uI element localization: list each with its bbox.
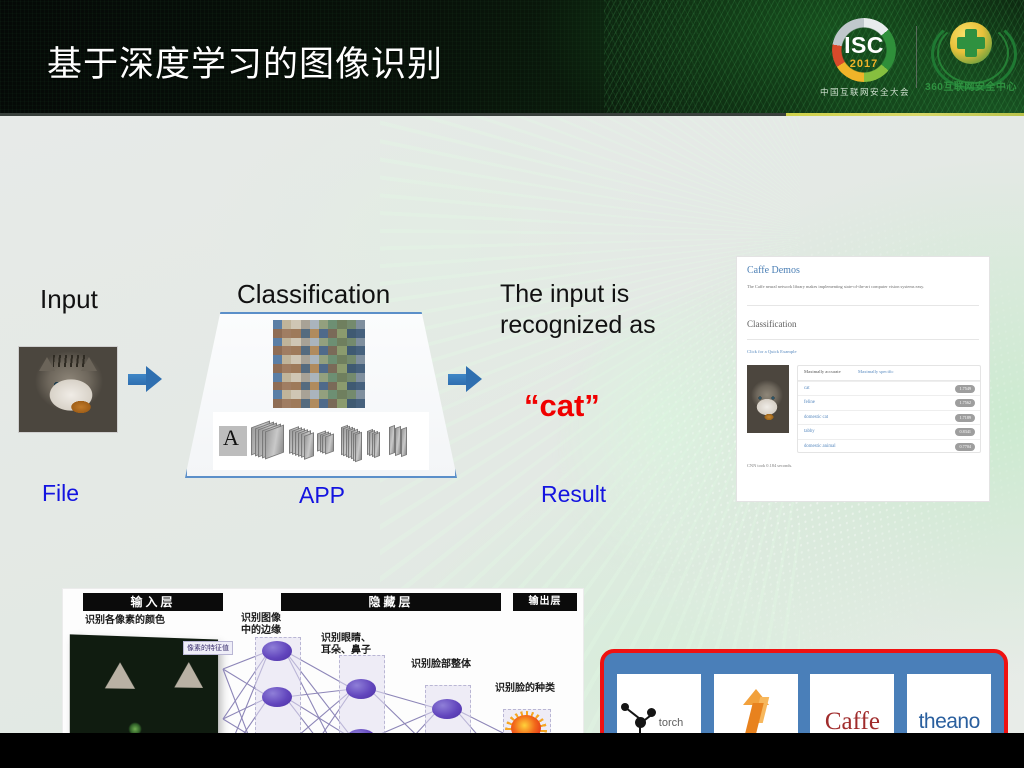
dataset-thumbnail <box>328 399 337 408</box>
result-word: “cat” <box>524 388 600 424</box>
result-label-text: tabby <box>804 429 815 434</box>
sec360-logo: 360互联网安全中心 <box>928 14 1014 104</box>
dataset-thumbnail <box>273 390 282 399</box>
dataset-thumbnail <box>319 399 328 408</box>
dataset-thumbnail <box>328 364 337 373</box>
cnn-feature-map <box>304 432 314 460</box>
dataset-thumbnail <box>291 320 300 329</box>
framework-card-torch[interactable]: torch <box>617 674 701 733</box>
page-title: 基于深度学习的图像识别 <box>47 44 443 86</box>
caffe-quick-example-link[interactable]: Click for a Quick Example <box>747 349 797 354</box>
dataset-thumbnail <box>273 355 282 364</box>
caffe-demos-title: Caffe Demos <box>747 265 800 276</box>
dataset-thumbnail <box>301 382 310 391</box>
dataset-thumbnail <box>356 390 365 399</box>
dataset-thumbnail <box>337 382 346 391</box>
cnn-feature-map <box>325 434 334 455</box>
image-dataset-thumbnail-grid <box>273 320 365 408</box>
dataset-thumbnail <box>310 399 319 408</box>
dataset-thumbnail <box>282 390 291 399</box>
dataset-thumbnail <box>301 320 310 329</box>
nn-node <box>346 679 376 699</box>
caffe-results-panel: Maximally accurate Maximally specific ca… <box>797 365 981 453</box>
dataset-thumbnail <box>328 338 337 347</box>
dataset-thumbnail <box>273 364 282 373</box>
input-label: Input <box>40 284 98 315</box>
result-score-badge: 1.7562 <box>955 399 975 407</box>
caffe-divider-2 <box>747 339 979 340</box>
caffe-description-text: The Caffe neural network library makes i… <box>747 284 924 289</box>
dataset-thumbnail <box>328 355 337 364</box>
result-label-text: feline <box>804 400 815 405</box>
nn-node <box>432 699 462 719</box>
dataset-thumbnail <box>337 373 346 382</box>
result-label-text: domestic animal <box>804 444 836 449</box>
dataset-thumbnail <box>319 329 328 338</box>
framework-card-caffe[interactable]: Caffe <box>810 674 894 733</box>
app-caption: APP <box>299 482 345 509</box>
dataset-thumbnail <box>319 338 328 347</box>
dataset-thumbnail <box>291 346 300 355</box>
caffe-logo-label: Caffe <box>825 708 880 733</box>
dataset-thumbnail <box>328 390 337 399</box>
dataset-thumbnail <box>347 355 356 364</box>
dataset-thumbnail <box>310 382 319 391</box>
dataset-thumbnail <box>301 355 310 364</box>
caffe-divider-1 <box>747 305 979 306</box>
dataset-thumbnail <box>291 338 300 347</box>
dataset-thumbnail <box>282 320 291 329</box>
dataset-thumbnail <box>319 373 328 382</box>
slide-header: 基于深度学习的图像识别 ISC 2017 中国互联网安全大会 360互联网安全中… <box>0 0 1024 114</box>
neural-network-illustration: 输入层 隐藏层 输出层 识别各像素的颜色 识别图像 中的边缘 识别眼睛、 耳朵、… <box>62 588 584 733</box>
dataset-thumbnail <box>347 320 356 329</box>
dataset-thumbnail <box>282 329 291 338</box>
input-cat-photo <box>18 346 118 433</box>
dataset-thumbnail <box>310 320 319 329</box>
result-label-text: domestic cat <box>804 415 828 420</box>
nn-node <box>262 641 292 661</box>
cnn-feature-map <box>265 425 284 460</box>
table-row[interactable]: feline 1.7562 <box>798 395 980 410</box>
caffe-demos-description: The Caffe neural network library makes i… <box>747 284 979 290</box>
framework-card-theano[interactable]: theano <box>907 674 991 733</box>
dataset-thumbnail <box>347 399 356 408</box>
dataset-thumbnail <box>291 355 300 364</box>
dataset-thumbnail <box>337 355 346 364</box>
table-row[interactable]: tabby 0.8341 <box>798 424 980 439</box>
result-label-text: cat <box>804 386 810 391</box>
framework-logos-panel: torch TensorFlow Caffe theano <box>600 649 1008 733</box>
table-row[interactable]: domestic animal 0.7704 <box>798 439 980 454</box>
dataset-thumbnail <box>356 399 365 408</box>
dataset-thumbnail <box>347 346 356 355</box>
torch-edge <box>639 726 641 733</box>
dataset-thumbnail <box>310 364 319 373</box>
dataset-thumbnail <box>291 382 300 391</box>
dataset-thumbnail <box>273 338 282 347</box>
result-score-badge: 1.7189 <box>955 414 975 422</box>
dataset-thumbnail <box>282 364 291 373</box>
table-row[interactable]: cat 1.7549 <box>798 381 980 396</box>
dataset-thumbnail <box>319 382 328 391</box>
arrow-shaft <box>128 374 148 385</box>
torch-logo-icon: torch <box>621 695 697 733</box>
dataset-thumbnail <box>310 355 319 364</box>
dataset-thumbnail <box>356 329 365 338</box>
logo-block: ISC 2017 中国互联网安全大会 360互联网安全中心 <box>816 14 1016 106</box>
pixel-feature-tag: 像素的特征值 <box>183 641 233 655</box>
dataset-thumbnail <box>301 390 310 399</box>
cnn-feature-map <box>401 427 407 457</box>
dataset-thumbnail <box>328 329 337 338</box>
dataset-thumbnail <box>347 329 356 338</box>
arrow-shaft <box>448 374 468 385</box>
dataset-thumbnail <box>282 338 291 347</box>
dataset-thumbnail <box>291 373 300 382</box>
isc-logo-subtitle: 中国互联网安全大会 <box>818 86 912 98</box>
dataset-thumbnail <box>301 338 310 347</box>
dataset-thumbnail <box>310 390 319 399</box>
result-caption: Result <box>541 481 606 508</box>
tab-maximally-specific[interactable]: Maximally specific <box>858 369 894 374</box>
dataset-thumbnail <box>319 364 328 373</box>
dataset-thumbnail <box>282 346 291 355</box>
dataset-thumbnail <box>347 382 356 391</box>
dataset-thumbnail <box>356 338 365 347</box>
dataset-thumbnail <box>273 329 282 338</box>
dataset-thumbnail <box>337 399 346 408</box>
dataset-thumbnail <box>301 346 310 355</box>
slide-footer-bar <box>0 733 1024 768</box>
dataset-thumbnail <box>291 329 300 338</box>
cnn-feature-map <box>374 432 380 458</box>
isc-logo-name: ISC <box>832 32 896 59</box>
caffe-timing-footer: CNN took 0.184 seconds. <box>747 463 792 468</box>
file-caption: File <box>42 480 79 507</box>
classification-app-shape: A <box>185 312 457 478</box>
dataset-thumbnail <box>337 390 346 399</box>
dataset-thumbnail <box>319 355 328 364</box>
dataset-thumbnail <box>301 364 310 373</box>
dataset-thumbnail <box>347 364 356 373</box>
dataset-thumbnail <box>319 390 328 399</box>
dataset-thumbnail <box>319 320 328 329</box>
table-row[interactable]: domestic cat 1.7189 <box>798 410 980 425</box>
caffe-section-title: Classification <box>747 319 797 329</box>
cat-forehead-stripes <box>53 355 85 367</box>
dataset-thumbnail <box>310 346 319 355</box>
dataset-thumbnail <box>356 346 365 355</box>
arrow-head <box>466 366 482 392</box>
result-score-badge: 0.8341 <box>955 428 975 436</box>
dataset-thumbnail <box>356 382 365 391</box>
torch-edge <box>625 707 640 720</box>
dataset-thumbnail <box>337 346 346 355</box>
dataset-thumbnail <box>301 399 310 408</box>
dataset-thumbnail <box>337 329 346 338</box>
tensorflow-logo-icon: TensorFlow <box>721 685 791 733</box>
dataset-thumbnail <box>347 390 356 399</box>
dataset-thumbnail <box>301 373 310 382</box>
dataset-thumbnail <box>328 373 337 382</box>
caffe-demos-screenshot: Caffe Demos The Caffe neural network lib… <box>736 256 990 502</box>
dataset-thumbnail <box>273 346 282 355</box>
dataset-thumbnail <box>337 338 346 347</box>
dataset-thumbnail <box>356 320 365 329</box>
sec360-logo-subtitle: 360互联网安全中心 <box>924 78 1018 93</box>
dataset-thumbnail <box>347 373 356 382</box>
dataset-thumbnail <box>356 364 365 373</box>
isc-logo-year: 2017 <box>832 58 896 70</box>
dataset-thumbnail <box>310 373 319 382</box>
dataset-thumbnail <box>301 329 310 338</box>
dataset-thumbnail <box>291 390 300 399</box>
theano-logo-label: theano <box>919 710 980 733</box>
dataset-thumbnail <box>282 373 291 382</box>
dataset-thumbnail <box>356 373 365 382</box>
dataset-thumbnail <box>291 399 300 408</box>
dataset-thumbnail <box>273 373 282 382</box>
dataset-thumbnail <box>310 338 319 347</box>
dataset-thumbnail <box>282 382 291 391</box>
cnn-architecture-diagram: A <box>213 412 429 470</box>
dataset-thumbnail <box>337 320 346 329</box>
result-score-badge: 0.7704 <box>955 443 975 451</box>
dataset-thumbnail <box>328 320 337 329</box>
dataset-thumbnail <box>291 364 300 373</box>
dataset-thumbnail <box>282 355 291 364</box>
arrow-right-icon-app-to-result <box>448 366 482 392</box>
tab-maximally-accurate[interactable]: Maximally accurate <box>804 369 841 374</box>
torch-label: torch <box>659 717 683 729</box>
nn-node <box>262 687 292 707</box>
framework-card-tensorflow[interactable]: TensorFlow <box>714 674 798 733</box>
caffe-input-thumbnail <box>747 365 789 433</box>
cnn-input-letter: A <box>223 427 239 449</box>
dataset-thumbnail <box>273 320 282 329</box>
dataset-thumbnail <box>337 364 346 373</box>
isc-2017-logo: ISC 2017 中国互联网安全大会 <box>820 16 910 104</box>
dataset-thumbnail <box>356 355 365 364</box>
dataset-thumbnail <box>273 399 282 408</box>
dataset-thumbnail <box>328 346 337 355</box>
classification-label: Classification <box>237 279 390 310</box>
result-score-badge: 1.7549 <box>955 385 975 393</box>
arrow-head <box>146 366 162 392</box>
dataset-thumbnail <box>282 399 291 408</box>
green-cross-shield-icon <box>950 22 992 64</box>
recognized-as-text: The input is recognized as <box>500 279 656 341</box>
cnn-feature-map <box>355 431 362 462</box>
dataset-thumbnail <box>310 329 319 338</box>
dataset-thumbnail <box>319 346 328 355</box>
dataset-thumbnail <box>347 338 356 347</box>
dataset-thumbnail <box>328 382 337 391</box>
dataset-thumbnail <box>273 382 282 391</box>
arrow-right-icon-input-to-app <box>128 366 162 392</box>
logo-divider <box>916 26 917 88</box>
slide-body: Input File Classification A APP The inpu… <box>0 116 1024 733</box>
